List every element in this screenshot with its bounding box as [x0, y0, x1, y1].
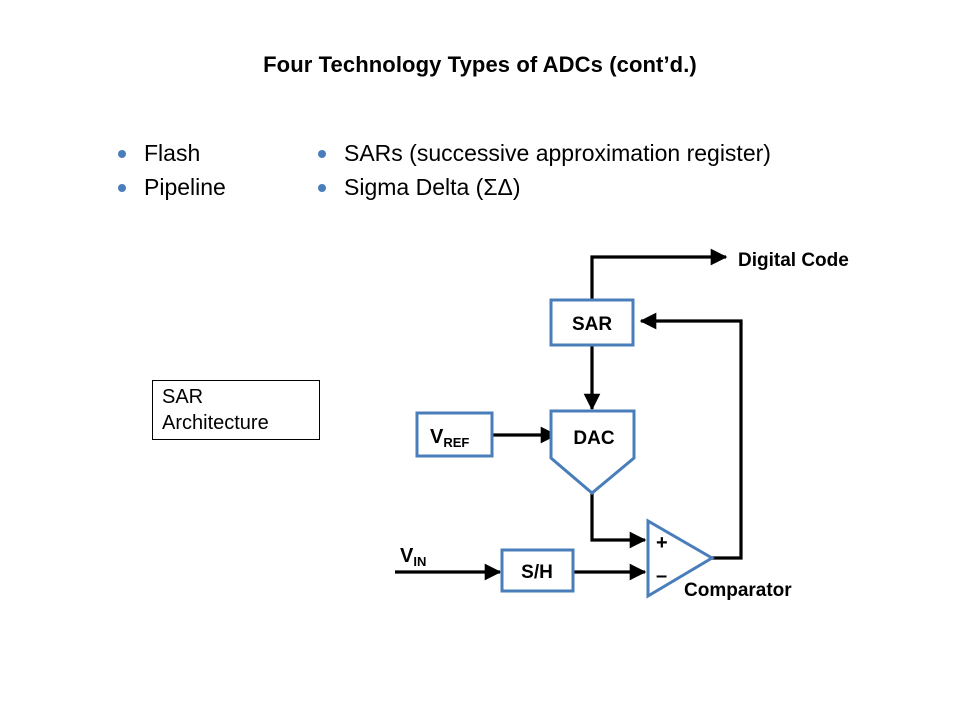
- digital-code-label: Digital Code: [738, 250, 849, 271]
- vref-subscript: REF: [443, 435, 469, 450]
- comparator-label: Comparator: [684, 580, 792, 601]
- wire-dac-to-comparator-plus: [592, 493, 645, 540]
- block-dac-label: DAC: [573, 428, 614, 449]
- sar-adc-block-diagram: SAR DAC VREF S/H + – Digital Code Compar…: [0, 0, 960, 720]
- block-dac[interactable]: [551, 411, 634, 493]
- vref-main: V: [430, 426, 444, 448]
- vin-label: VIN: [400, 545, 426, 569]
- comparator-minus-input-label: –: [656, 565, 667, 587]
- vin-main: V: [400, 545, 414, 567]
- wire-comparator-feedback-to-sar: [641, 321, 741, 558]
- comparator-plus-input-label: +: [656, 532, 668, 554]
- wire-sar-to-digital-code: [592, 257, 726, 300]
- vin-subscript: IN: [413, 554, 426, 569]
- block-sar-label: SAR: [572, 314, 612, 335]
- block-sh-label: S/H: [521, 562, 553, 583]
